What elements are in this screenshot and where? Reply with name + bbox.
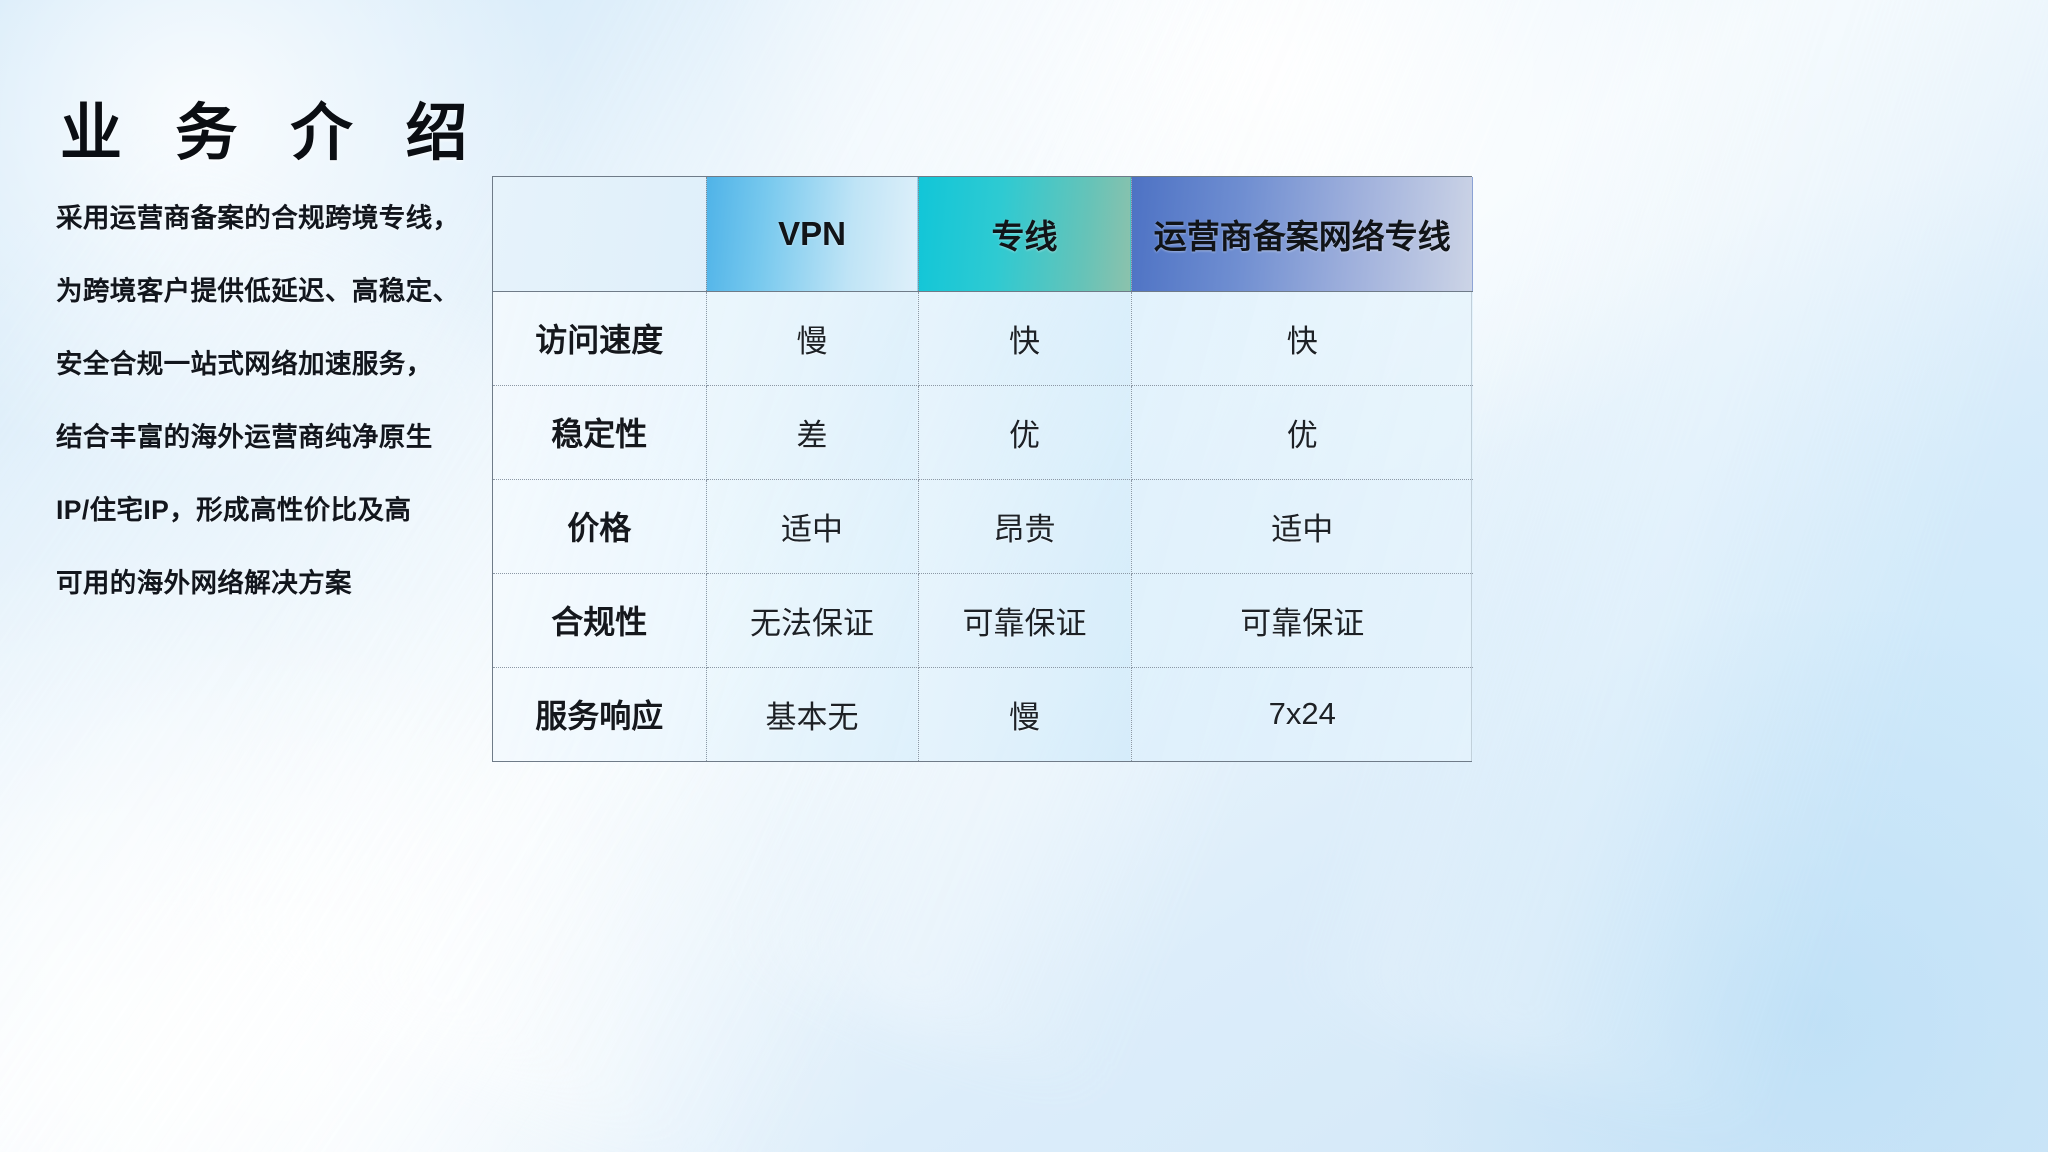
row-label-service-response: 服务响应 — [493, 667, 706, 761]
table-header-row: VPN 专线 运营商备案网络专线 — [493, 177, 1473, 291]
comparison-table: VPN 专线 运营商备案网络专线 访问速度 慢 快 快 稳定性 差 优 优 — [493, 177, 1473, 761]
intro-paragraph: 采用运营商备案的合规跨境专线， 为跨境客户提供低延迟、高稳定、 安全合规一站式网… — [56, 182, 486, 620]
row-label-access-speed: 访问速度 — [493, 291, 706, 385]
row-label-price: 价格 — [493, 479, 706, 573]
cell-service-response-vpn: 基本无 — [706, 667, 918, 761]
cell-price-line: 昂贵 — [918, 479, 1131, 573]
cell-stability-vpn: 差 — [706, 385, 918, 479]
table-row: 合规性 无法保证 可靠保证 可靠保证 — [493, 573, 1473, 667]
table-row: 稳定性 差 优 优 — [493, 385, 1473, 479]
cell-access-speed-carrier: 快 — [1131, 291, 1473, 385]
slide-canvas: 业 务 介 绍 采用运营商备案的合规跨境专线， 为跨境客户提供低延迟、高稳定、 … — [0, 0, 2048, 1152]
column-header-vpn: VPN — [706, 177, 918, 291]
cell-service-response-carrier: 7x24 — [1131, 667, 1473, 761]
cell-price-carrier: 适中 — [1131, 479, 1473, 573]
table-header: VPN 专线 运营商备案网络专线 — [493, 177, 1473, 291]
cell-access-speed-vpn: 慢 — [706, 291, 918, 385]
cell-access-speed-line: 快 — [918, 291, 1131, 385]
table-row: 价格 适中 昂贵 适中 — [493, 479, 1473, 573]
row-label-compliance: 合规性 — [493, 573, 706, 667]
cell-compliance-carrier: 可靠保证 — [1131, 573, 1473, 667]
intro-line: 可用的海外网络解决方案 — [56, 547, 486, 620]
intro-line: 为跨境客户提供低延迟、高稳定、 — [56, 255, 486, 328]
column-header-leased-line: 专线 — [918, 177, 1131, 291]
intro-line: IP/住宅IP，形成高性价比及高 — [56, 474, 486, 547]
table-body: 访问速度 慢 快 快 稳定性 差 优 优 价格 适中 昂贵 适中 — [493, 291, 1473, 761]
table-row: 服务响应 基本无 慢 7x24 — [493, 667, 1473, 761]
cell-stability-carrier: 优 — [1131, 385, 1473, 479]
cell-stability-line: 优 — [918, 385, 1131, 479]
intro-line: 安全合规一站式网络加速服务， — [56, 328, 486, 401]
column-header-blank — [493, 177, 706, 291]
cell-compliance-vpn: 无法保证 — [706, 573, 918, 667]
column-header-carrier-registered-line: 运营商备案网络专线 — [1131, 177, 1473, 291]
table-row: 访问速度 慢 快 快 — [493, 291, 1473, 385]
page-title: 业 务 介 绍 — [60, 98, 486, 169]
cell-compliance-line: 可靠保证 — [918, 573, 1131, 667]
intro-line: 采用运营商备案的合规跨境专线， — [56, 182, 486, 255]
intro-line: 结合丰富的海外运营商纯净原生 — [56, 401, 486, 474]
comparison-table-container: VPN 专线 运营商备案网络专线 访问速度 慢 快 快 稳定性 差 优 优 — [492, 176, 1472, 762]
cell-price-vpn: 适中 — [706, 479, 918, 573]
cell-service-response-line: 慢 — [918, 667, 1131, 761]
row-label-stability: 稳定性 — [493, 385, 706, 479]
